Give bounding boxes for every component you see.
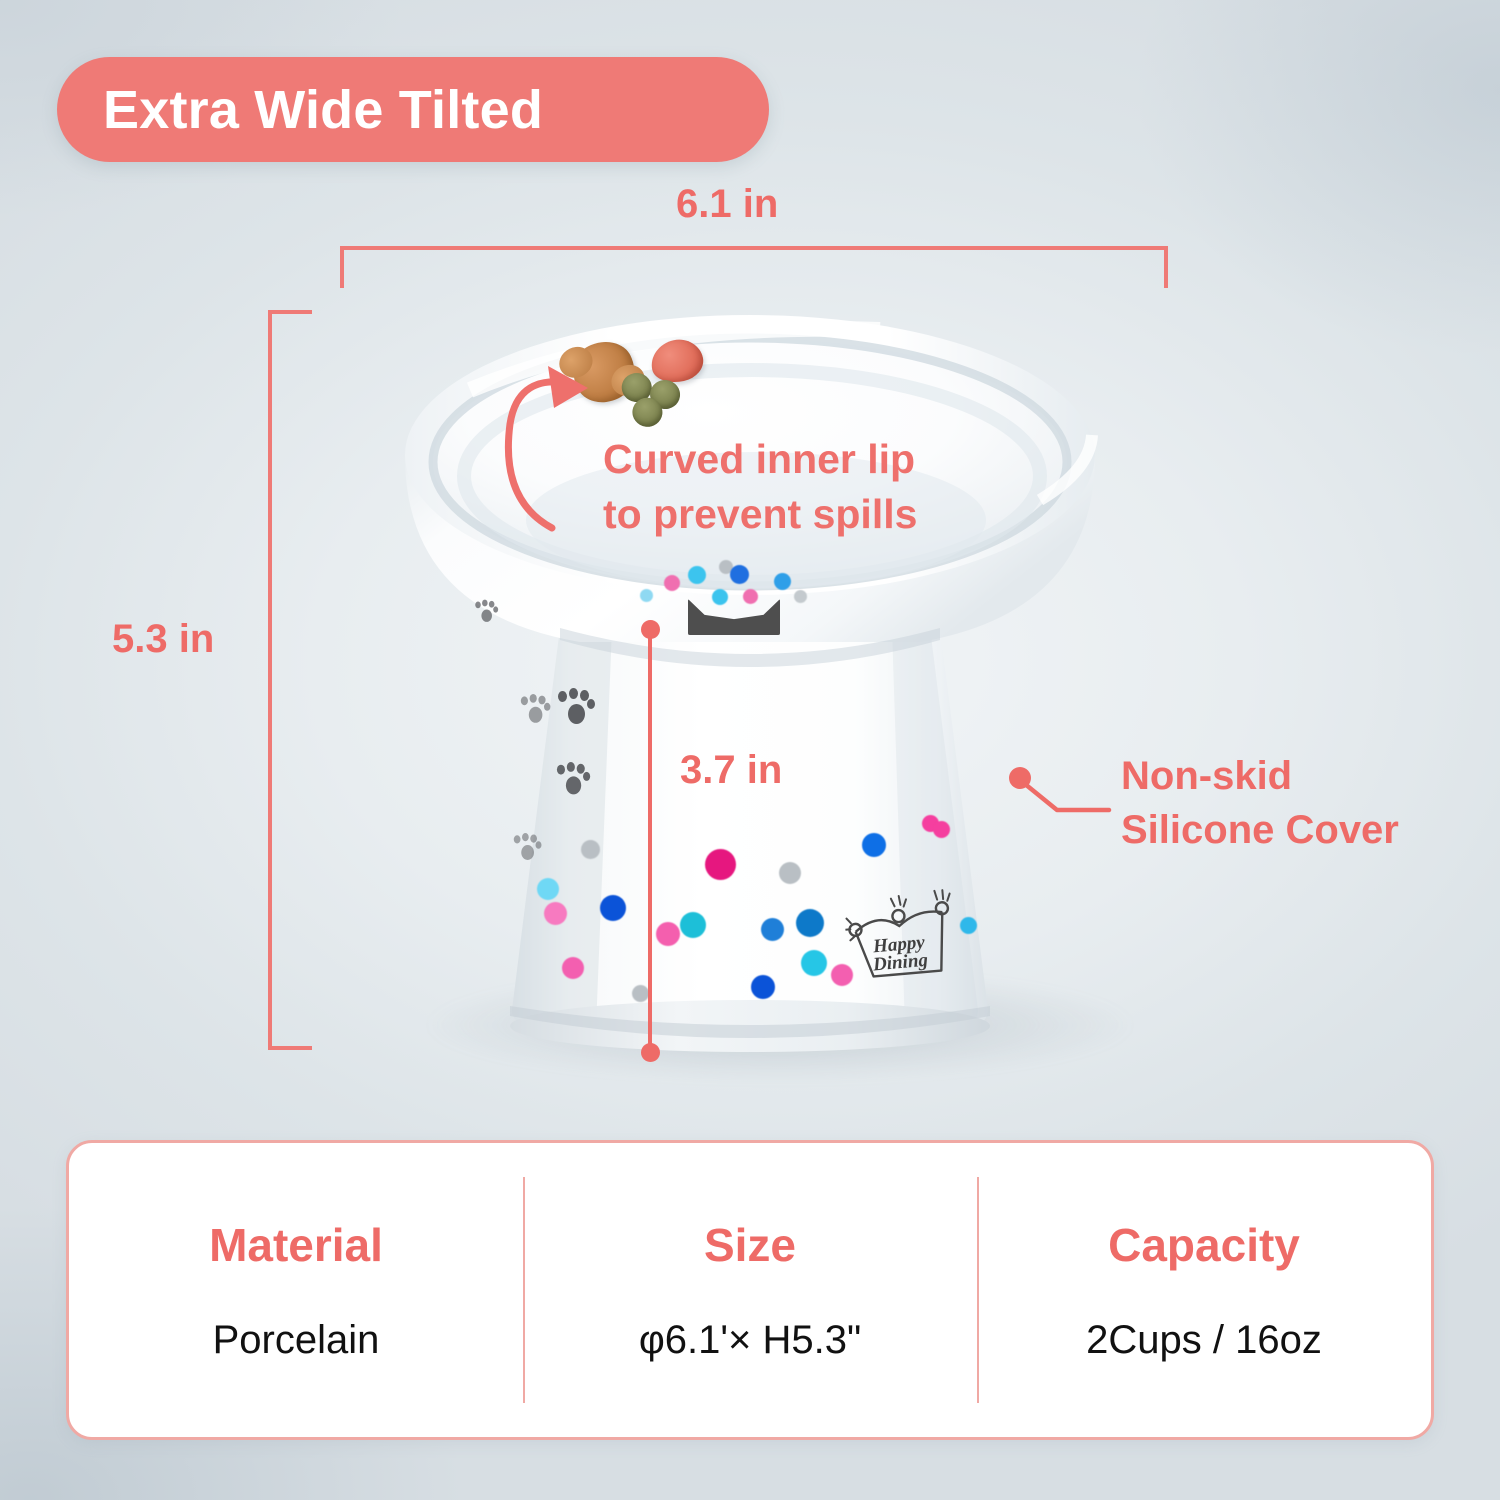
paw-print-icon [555, 762, 593, 798]
decor-dot [664, 575, 680, 591]
width-dimension-label: 6.1 in [676, 182, 778, 227]
silicone-line1: Non-skid [1121, 750, 1399, 804]
width-dimension-bracket [340, 246, 1168, 288]
silicone-leader-line [1005, 762, 1135, 852]
silicone-callout: Non-skid Silicone Cover [1005, 762, 1475, 892]
silicone-line2: Silicone Cover [1121, 804, 1399, 858]
decor-dot [705, 849, 736, 880]
decor-dot [796, 909, 824, 937]
decor-dot [640, 589, 653, 602]
curved-lip-callout: Curved inner lip to prevent spills [603, 432, 917, 541]
decor-dot [743, 589, 758, 604]
inner-height-dot-bottom [641, 1043, 660, 1062]
decor-dot [688, 566, 706, 584]
decor-dot [862, 833, 886, 857]
paw-print-icon [512, 833, 544, 863]
spec-column-capacity: Capacity 2Cups / 16oz [977, 1143, 1431, 1437]
paw-print-icon [474, 600, 500, 625]
spec-value-capacity: 2Cups / 16oz [1086, 1318, 1322, 1363]
spec-value-size: φ6.1'× H5.3" [639, 1318, 861, 1363]
decor-dot [544, 902, 567, 925]
inner-height-dot-top [641, 620, 660, 639]
silicone-callout-text: Non-skid Silicone Cover [1121, 750, 1399, 857]
decor-dot [794, 590, 807, 603]
decor-dot [712, 589, 728, 605]
infographic-canvas: Extra Wide Tilted 6.1 in 5.3 in [0, 0, 1500, 1500]
spec-column-size: Size φ6.1'× H5.3" [523, 1143, 977, 1437]
spec-value-material: Porcelain [213, 1318, 380, 1363]
decor-dot [960, 917, 977, 934]
decor-dot [933, 821, 950, 838]
paw-print-icon [556, 688, 598, 728]
spec-header-material: Material [209, 1218, 383, 1272]
curved-lip-arrow-icon [470, 350, 620, 550]
decor-dot [719, 560, 733, 574]
decor-dot [537, 878, 559, 900]
feature-badge: Extra Wide Tilted [57, 57, 769, 162]
cat-face-silicone-tab [688, 599, 780, 635]
decor-dot [581, 840, 600, 859]
height-dimension-label: 5.3 in [112, 617, 214, 662]
inner-height-label: 3.7 in [680, 748, 782, 793]
curved-lip-line2: to prevent spills [603, 487, 917, 542]
decor-dot [656, 922, 680, 946]
decor-dot [761, 918, 784, 941]
bowl-pedestal [512, 628, 988, 1028]
product-floor-shadow [430, 970, 1130, 1080]
spec-header-capacity: Capacity [1108, 1218, 1300, 1272]
decor-dot [774, 573, 791, 590]
paw-print-icon [519, 694, 553, 726]
height-dimension-bracket [268, 310, 312, 1050]
decor-dot [922, 815, 939, 832]
feature-badge-label: Extra Wide Tilted [103, 79, 543, 141]
crown-logo-line1: Happy [871, 932, 926, 958]
curved-lip-line1: Curved inner lip [603, 432, 917, 487]
decor-dot [600, 895, 626, 921]
kibble-pink-oval [647, 335, 707, 387]
spec-header-size: Size [704, 1218, 796, 1272]
inner-height-line [648, 628, 652, 1053]
decor-dot [730, 565, 749, 584]
spec-table: Material Porcelain Size φ6.1'× H5.3" Cap… [66, 1140, 1434, 1440]
decor-dot [680, 912, 706, 938]
decor-dot [779, 862, 801, 884]
spec-column-material: Material Porcelain [69, 1143, 523, 1437]
